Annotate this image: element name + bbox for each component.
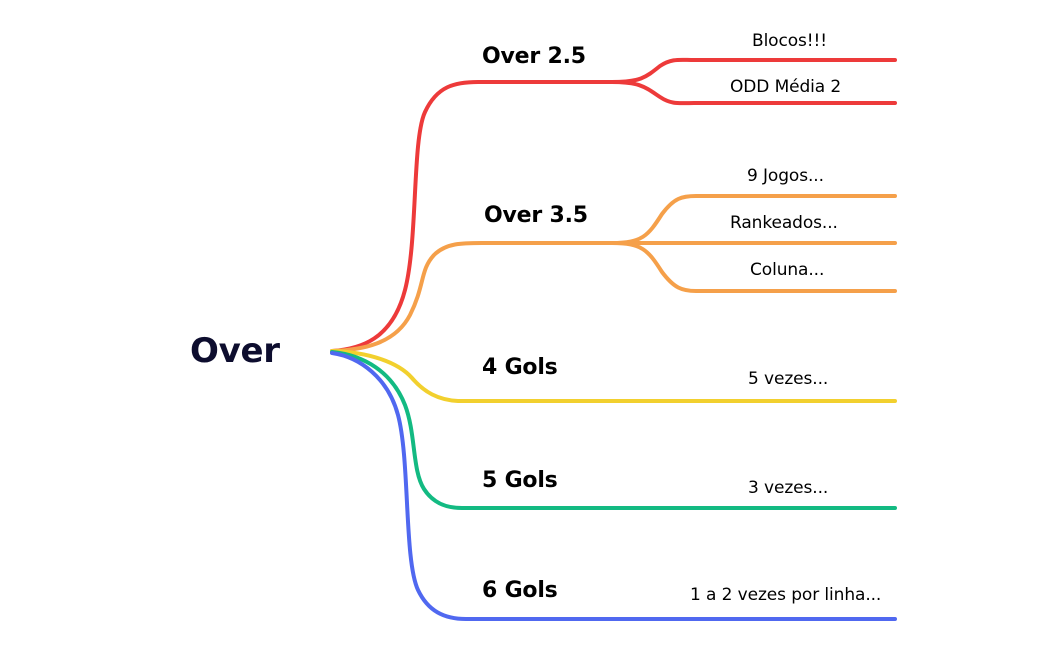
branch-label-4-gols[interactable]: 4 Gols: [482, 355, 558, 380]
leaf-label-odd-media-2[interactable]: ODD Média 2: [730, 77, 841, 97]
branch-path-over-25[interactable]: [332, 60, 895, 351]
mindmap-canvas: Over Over 2.5 Over 3.5 4 Gols 5 Gols 6 G…: [0, 0, 1050, 649]
branch-connector-layer: [0, 0, 1050, 649]
leaf-label-3-vezes[interactable]: 3 vezes...: [748, 478, 828, 498]
leaf-label-blocos[interactable]: Blocos!!!: [752, 31, 827, 51]
branch-label-over-25[interactable]: Over 2.5: [482, 44, 586, 69]
leaf-label-1-a-2-vezes-por-linha[interactable]: 1 a 2 vezes por linha...: [690, 585, 881, 605]
branch-label-6-gols[interactable]: 6 Gols: [482, 578, 558, 603]
leaf-label-coluna[interactable]: Coluna...: [750, 260, 824, 280]
leaf-label-5-vezes[interactable]: 5 vezes...: [748, 369, 828, 389]
branch-label-5-gols[interactable]: 5 Gols: [482, 468, 558, 493]
leaf-label-9-jogos[interactable]: 9 Jogos...: [747, 166, 824, 186]
leaf-label-rankeados[interactable]: Rankeados...: [730, 213, 838, 233]
branch-label-over-35[interactable]: Over 3.5: [484, 203, 588, 228]
root-node-label[interactable]: Over: [190, 331, 280, 371]
